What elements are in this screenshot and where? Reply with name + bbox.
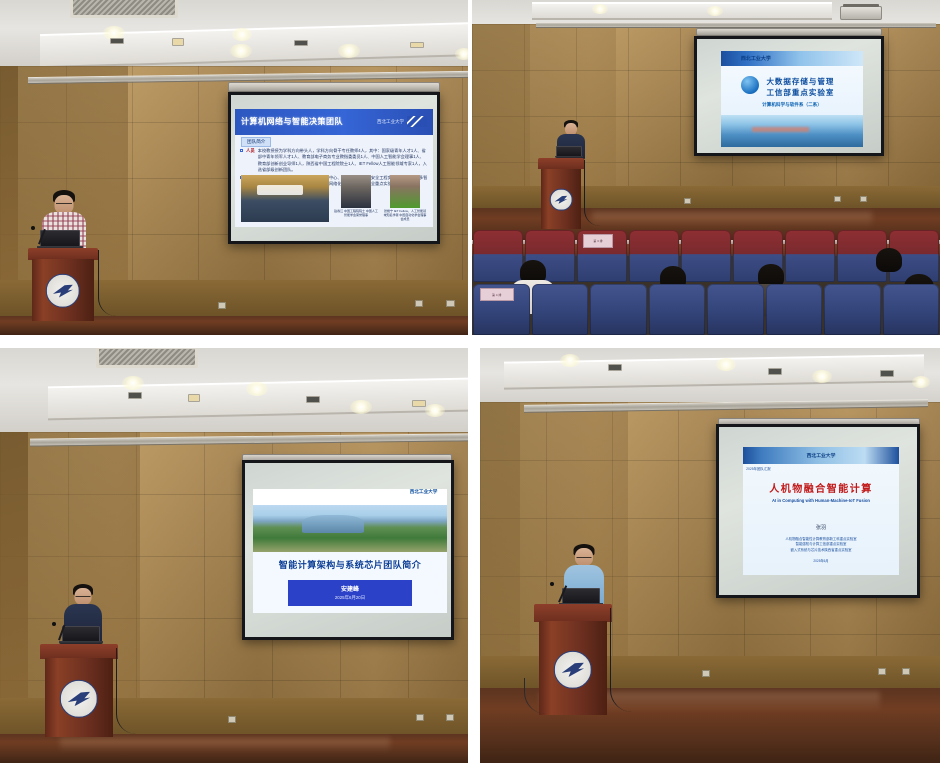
- nwpu-emblem-icon: [46, 274, 80, 308]
- wall-socket: [446, 714, 454, 721]
- ceiling-light: [716, 358, 736, 371]
- podium-top: [28, 248, 98, 260]
- wall-edge-panel: [480, 402, 520, 688]
- seat[interactable]: 第 3 排: [577, 230, 627, 282]
- seat[interactable]: [681, 230, 731, 282]
- ceiling-light: [560, 354, 580, 367]
- slide-team-intro: 计算机网络与智能决策团队 西北工业大学 团队简介 人员 本校教授授为学: [235, 109, 433, 227]
- light-fixture: [110, 38, 124, 44]
- slide-header: 计算机网络与智能决策团队 西北工业大学: [235, 109, 433, 135]
- speaker-name: 张羽: [743, 524, 899, 531]
- ceiling-light: [812, 370, 832, 383]
- projection-screen: 计算机网络与智能决策团队 西北工业大学 团队简介 人员 本校教授授为学: [228, 92, 440, 244]
- seat[interactable]: [824, 284, 881, 335]
- seat[interactable]: [590, 284, 647, 335]
- ceiling-light: [232, 28, 252, 41]
- portrait-2: 张艳宁 IET Fellow，人工智能领域知名学者 中国自动化学会理事会成员: [383, 175, 427, 222]
- slide-title: 智能计算架构与系统芯片团队简介: [253, 558, 447, 571]
- nwpu-emblem-icon: [554, 650, 592, 688]
- laptop[interactable]: [40, 230, 80, 247]
- power-cable: [116, 648, 136, 734]
- screen-surface: 西北工业大学 智能计算架构与系统芯片团队简介 安建峰 2025年6月20日: [245, 463, 451, 637]
- glasses-icon: [577, 557, 592, 560]
- ceiling-light: [122, 376, 144, 390]
- microphone-icon: [550, 582, 554, 586]
- slide-tag: 2025年团队汇报: [746, 466, 771, 471]
- podium-top: [534, 604, 612, 622]
- light-fixture: [128, 392, 142, 399]
- portrait-image: [390, 175, 421, 208]
- bullet-row: 人员 本校教授授为学科方向带头人，学科方向骨干专任教师4人，其中：国家级青年人才…: [240, 148, 428, 173]
- air-conditioner-vent-icon: [70, 0, 178, 18]
- glasses-icon: [56, 203, 72, 206]
- slide-title: 计算机网络与智能决策团队: [241, 116, 343, 127]
- power-cable: [584, 160, 600, 226]
- slide-top-band: 西北工业大学: [721, 51, 863, 66]
- bird-emblem-icon: [562, 662, 585, 677]
- seat[interactable]: [883, 284, 940, 335]
- seat-row-label: 第 4 排: [480, 288, 514, 301]
- floor-reflection: [592, 212, 872, 228]
- university-name: 西北工业大学: [377, 119, 404, 125]
- photo-collage: 计算机网络与智能决策团队 西北工业大学 团队简介 人员 本校教授授为学: [0, 0, 940, 763]
- slide-hmiot-title: 西北工业大学 2025年团队汇报 人机物融合智能计算 AI in Computi…: [743, 447, 899, 575]
- lecture-hall-scene: 西北工业大学 智能计算架构与系统芯片团队简介 安建峰 2025年6月20日: [0, 348, 468, 763]
- speaker-name: 安建峰: [341, 584, 359, 593]
- podium-body: [539, 621, 608, 716]
- laptop[interactable]: [556, 146, 582, 157]
- bird-emblem-icon: [53, 284, 73, 297]
- microphone-icon: [52, 622, 56, 626]
- university-name: 西北工业大学: [807, 452, 836, 459]
- microphone-icon: [31, 226, 35, 230]
- portrait-1: 赵春江 中国工程院院士 中国人工智能学会荣誉理事: [334, 175, 378, 222]
- decorative-badge-icon: [407, 116, 427, 127]
- slide-team-title: 西北工业大学 智能计算架构与系统芯片团队简介 安建峰 2025年6月20日: [253, 489, 447, 613]
- screen-housing: [696, 28, 882, 36]
- podium-body: [32, 259, 94, 321]
- slide-campus-photo: [253, 505, 447, 552]
- slide-campus-image: [721, 115, 863, 147]
- slide-subtitle: 计算机科学与软件系（二系）: [721, 102, 863, 108]
- seat[interactable]: [785, 230, 835, 282]
- wall-edge-panel: [0, 432, 28, 734]
- bird-emblem-icon: [68, 692, 91, 707]
- light-fixture: [412, 400, 426, 407]
- ceiling-light: [707, 6, 723, 16]
- podium-top: [538, 158, 584, 169]
- light-fixture: [880, 370, 894, 377]
- affiliation-line: 嵌入式系统与芯片技术陕西省重点实验室: [743, 548, 899, 554]
- ceiling-light: [425, 404, 445, 417]
- slide-lab-title: 西北工业大学 大数据存储与管理 工信部重点实验室 计算机科学与软件系（二系）: [721, 51, 863, 147]
- slide-logo-group: 西北工业大学: [377, 116, 427, 127]
- ceiling-light: [230, 44, 252, 58]
- podium: [28, 248, 98, 320]
- seat[interactable]: [649, 284, 706, 335]
- ceiling-recess: [532, 2, 832, 20]
- laptop[interactable]: [562, 588, 600, 604]
- slide-title-line2: 工信部重点实验室: [766, 87, 834, 98]
- wall-socket: [684, 198, 691, 204]
- portrait-image: [341, 175, 372, 208]
- portrait-caption: 张艳宁 IET Fellow，人工智能领域知名学者 中国自动化学会理事会成员: [383, 209, 427, 221]
- wall-socket: [218, 302, 226, 309]
- wall-socket: [702, 670, 710, 677]
- bird-emblem-icon: [555, 196, 568, 204]
- wall-socket: [416, 714, 424, 721]
- lecture-hall-scene-wide: 西北工业大学 大数据存储与管理 工信部重点实验室 计算机科学与软件系（二系）: [472, 0, 940, 335]
- podium-body: [45, 658, 114, 737]
- speaker-affiliations: 人机物融合智能性计算教育部新工科重点实验室 智能感知与计算工信部重点实验室 嵌入…: [743, 537, 899, 554]
- floor-reflection: [60, 738, 390, 752]
- screen-surface: 西北工业大学 2025年团队汇报 人机物融合智能计算 AI in Computi…: [719, 427, 917, 595]
- university-name: 西北工业大学: [741, 55, 771, 62]
- laptop[interactable]: [62, 626, 100, 642]
- bullet-square-icon: [240, 149, 243, 152]
- ceiling-light: [455, 48, 468, 60]
- seat[interactable]: [707, 284, 764, 335]
- podium-top: [40, 644, 118, 659]
- wall-socket: [834, 196, 841, 202]
- group-photo: [241, 175, 329, 222]
- wall-socket: [878, 668, 886, 675]
- seat-row-4: 第 4 排: [472, 284, 940, 335]
- presentation-date: 2025年6月20日: [335, 595, 365, 601]
- wall-socket: [415, 300, 423, 307]
- screen-housing: [228, 82, 440, 92]
- ceiling-light: [912, 376, 930, 388]
- nwpu-emblem-icon: [550, 188, 573, 211]
- ceiling-light: [592, 4, 608, 14]
- podium-body: [541, 169, 581, 229]
- seat-row-label: 第 3 排: [583, 234, 613, 248]
- screen-surface: 西北工业大学 大数据存储与管理 工信部重点实验室 计算机科学与软件系（二系）: [697, 39, 881, 153]
- projection-screen: 西北工业大学 大数据存储与管理 工信部重点实验室 计算机科学与软件系（二系）: [694, 36, 884, 156]
- slide-top-band: 西北工业大学: [743, 447, 899, 464]
- bullet-text: 本校教授授为学科方向带头人，学科方向骨干专任教师4人，其中：国家级青年人才1人、…: [258, 148, 428, 173]
- wall-socket: [228, 716, 236, 723]
- slide-title: 人机物融合智能计算: [743, 480, 899, 495]
- seat[interactable]: [473, 230, 523, 282]
- light-fixture: [608, 364, 622, 371]
- lab-cube-icon: [741, 76, 759, 94]
- slide-photo-row: 赵春江 中国工程院院士 中国人工智能学会荣誉理事 张艳宁 IET Fellow，…: [241, 175, 427, 222]
- ceiling-light: [350, 400, 372, 414]
- photo-panel-bottom-left[interactable]: 西北工业大学 智能计算架构与系统芯片团队简介 安建峰 2025年6月20日: [0, 348, 468, 763]
- photo-panel-bottom-right[interactable]: 西北工业大学 2025年团队汇报 人机物融合智能计算 AI in Computi…: [480, 348, 940, 763]
- light-fixture: [188, 394, 200, 402]
- power-cable: [98, 250, 116, 316]
- lecture-hall-scene: 计算机网络与智能决策团队 西北工业大学 团队简介 人员 本校教授授为学: [0, 0, 468, 335]
- seat[interactable]: 第 4 排: [473, 284, 530, 335]
- podium: [538, 158, 584, 228]
- screen-surface: 计算机网络与智能决策团队 西北工业大学 团队简介 人员 本校教授授为学: [231, 95, 437, 241]
- light-fixture: [172, 38, 184, 46]
- university-name: 西北工业大学: [410, 489, 438, 495]
- slide-top-strip: 西北工业大学: [253, 489, 447, 505]
- audience-seating: 第 3 排: [472, 230, 940, 335]
- ceiling-projector: [840, 6, 882, 20]
- projection-screen: 西北工业大学 2025年团队汇报 人机物融合智能计算 AI in Computi…: [716, 424, 920, 598]
- slide-title-line1: 大数据存储与管理: [766, 76, 834, 87]
- wall-socket: [446, 300, 455, 307]
- nwpu-emblem-icon: [60, 680, 98, 718]
- wall-socket: [860, 196, 867, 202]
- seat[interactable]: [532, 284, 589, 335]
- slide-speaker-box: 安建峰 2025年6月20日: [288, 580, 412, 606]
- portrait-caption: 赵春江 中国工程院院士 中国人工智能学会荣誉理事: [334, 209, 378, 217]
- wall-socket: [902, 668, 910, 675]
- presentation-date: 2025年6月: [743, 558, 899, 563]
- photo-panel-top-right[interactable]: 西北工业大学 大数据存储与管理 工信部重点实验室 计算机科学与软件系（二系）: [472, 0, 940, 335]
- lecture-hall-scene: 西北工业大学 2025年团队汇报 人机物融合智能计算 AI in Computi…: [480, 348, 940, 763]
- audience-member-head: [876, 248, 902, 272]
- air-conditioner-vent-icon: [96, 348, 198, 368]
- light-fixture: [410, 42, 424, 48]
- light-fixture: [294, 40, 308, 46]
- projection-screen: 西北工业大学 智能计算架构与系统芯片团队简介 安建峰 2025年6月20日: [242, 460, 454, 640]
- slide-subtitle-english: AI in Computing with Human-Machine-IoT F…: [743, 498, 899, 503]
- wall-panel: [472, 24, 530, 202]
- light-fixture: [768, 368, 782, 375]
- photo-panel-top-left[interactable]: 计算机网络与智能决策团队 西北工业大学 团队简介 人员 本校教授授为学: [0, 0, 468, 335]
- ceiling-light: [338, 44, 360, 58]
- power-cable: [610, 608, 632, 712]
- light-fixture: [306, 396, 320, 403]
- slide-section-label: 团队简介: [241, 137, 271, 147]
- ceiling-light: [246, 382, 268, 396]
- bullet-key: 人员: [246, 148, 255, 154]
- seat[interactable]: [766, 284, 823, 335]
- glasses-icon: [76, 596, 91, 599]
- podium: [40, 644, 118, 736]
